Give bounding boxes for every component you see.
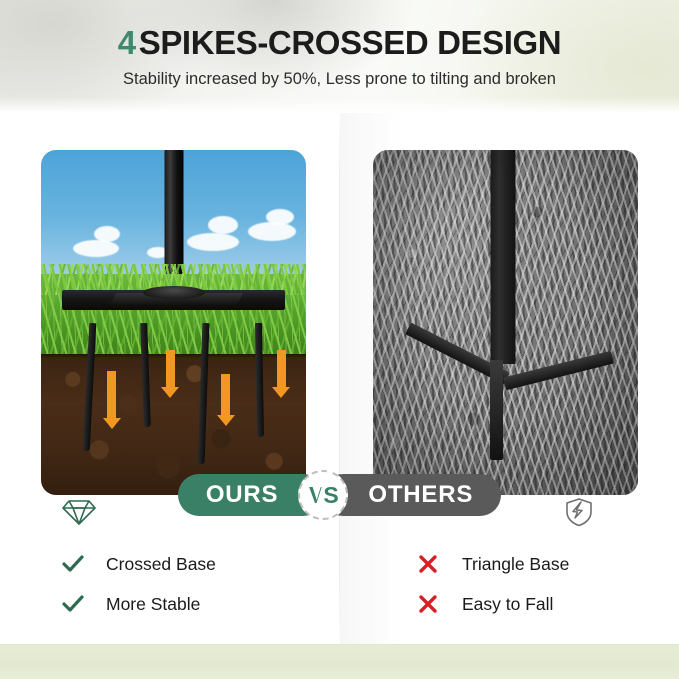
down-arrow-icon xyxy=(221,374,230,415)
check-icon xyxy=(62,595,92,613)
feature-item: Crossed Base xyxy=(62,544,332,584)
cloud-icon xyxy=(73,240,119,257)
feature-column-others: Triangle Base Easy to Fall xyxy=(418,497,679,624)
cloud-icon xyxy=(208,216,238,234)
ground-spike xyxy=(255,322,264,436)
feature-label: Crossed Base xyxy=(106,554,216,575)
page-subtitle: Stability increased by 50%, Less prone t… xyxy=(0,71,679,88)
page-title: 4SPIKES-CROSSED DESIGN xyxy=(0,26,679,59)
broken-shield-icon xyxy=(564,497,598,527)
feature-item: Triangle Base xyxy=(418,544,679,584)
feature-label: Easy to Fall xyxy=(462,594,553,615)
check-icon xyxy=(62,555,92,573)
down-arrow-icon xyxy=(107,371,116,419)
cloud-icon xyxy=(266,209,294,225)
title-number: 4 xyxy=(118,24,136,61)
panel-divider xyxy=(339,113,340,645)
cloud-icon xyxy=(187,233,239,251)
footer-band xyxy=(0,644,679,679)
product-image-ours xyxy=(41,150,306,495)
diamond-icon xyxy=(62,497,96,527)
photo-vignette xyxy=(373,150,638,495)
down-arrow-icon xyxy=(277,350,286,388)
cloud-icon xyxy=(94,226,120,242)
feature-label: Triangle Base xyxy=(462,554,569,575)
feature-item: Easy to Fall xyxy=(418,584,679,624)
base-hub xyxy=(143,286,205,299)
cross-icon xyxy=(418,594,448,614)
product-image-others xyxy=(373,150,638,495)
infographic-page: 4SPIKES-CROSSED DESIGN Stability increas… xyxy=(0,0,679,679)
title-text: SPIKES-CROSSED DESIGN xyxy=(139,24,562,61)
down-arrow-icon xyxy=(166,350,175,388)
feature-item: More Stable xyxy=(62,584,332,624)
feature-label: More Stable xyxy=(106,594,200,615)
feature-column-ours: Crossed Base More Stable xyxy=(62,497,332,624)
cross-icon xyxy=(418,554,448,574)
